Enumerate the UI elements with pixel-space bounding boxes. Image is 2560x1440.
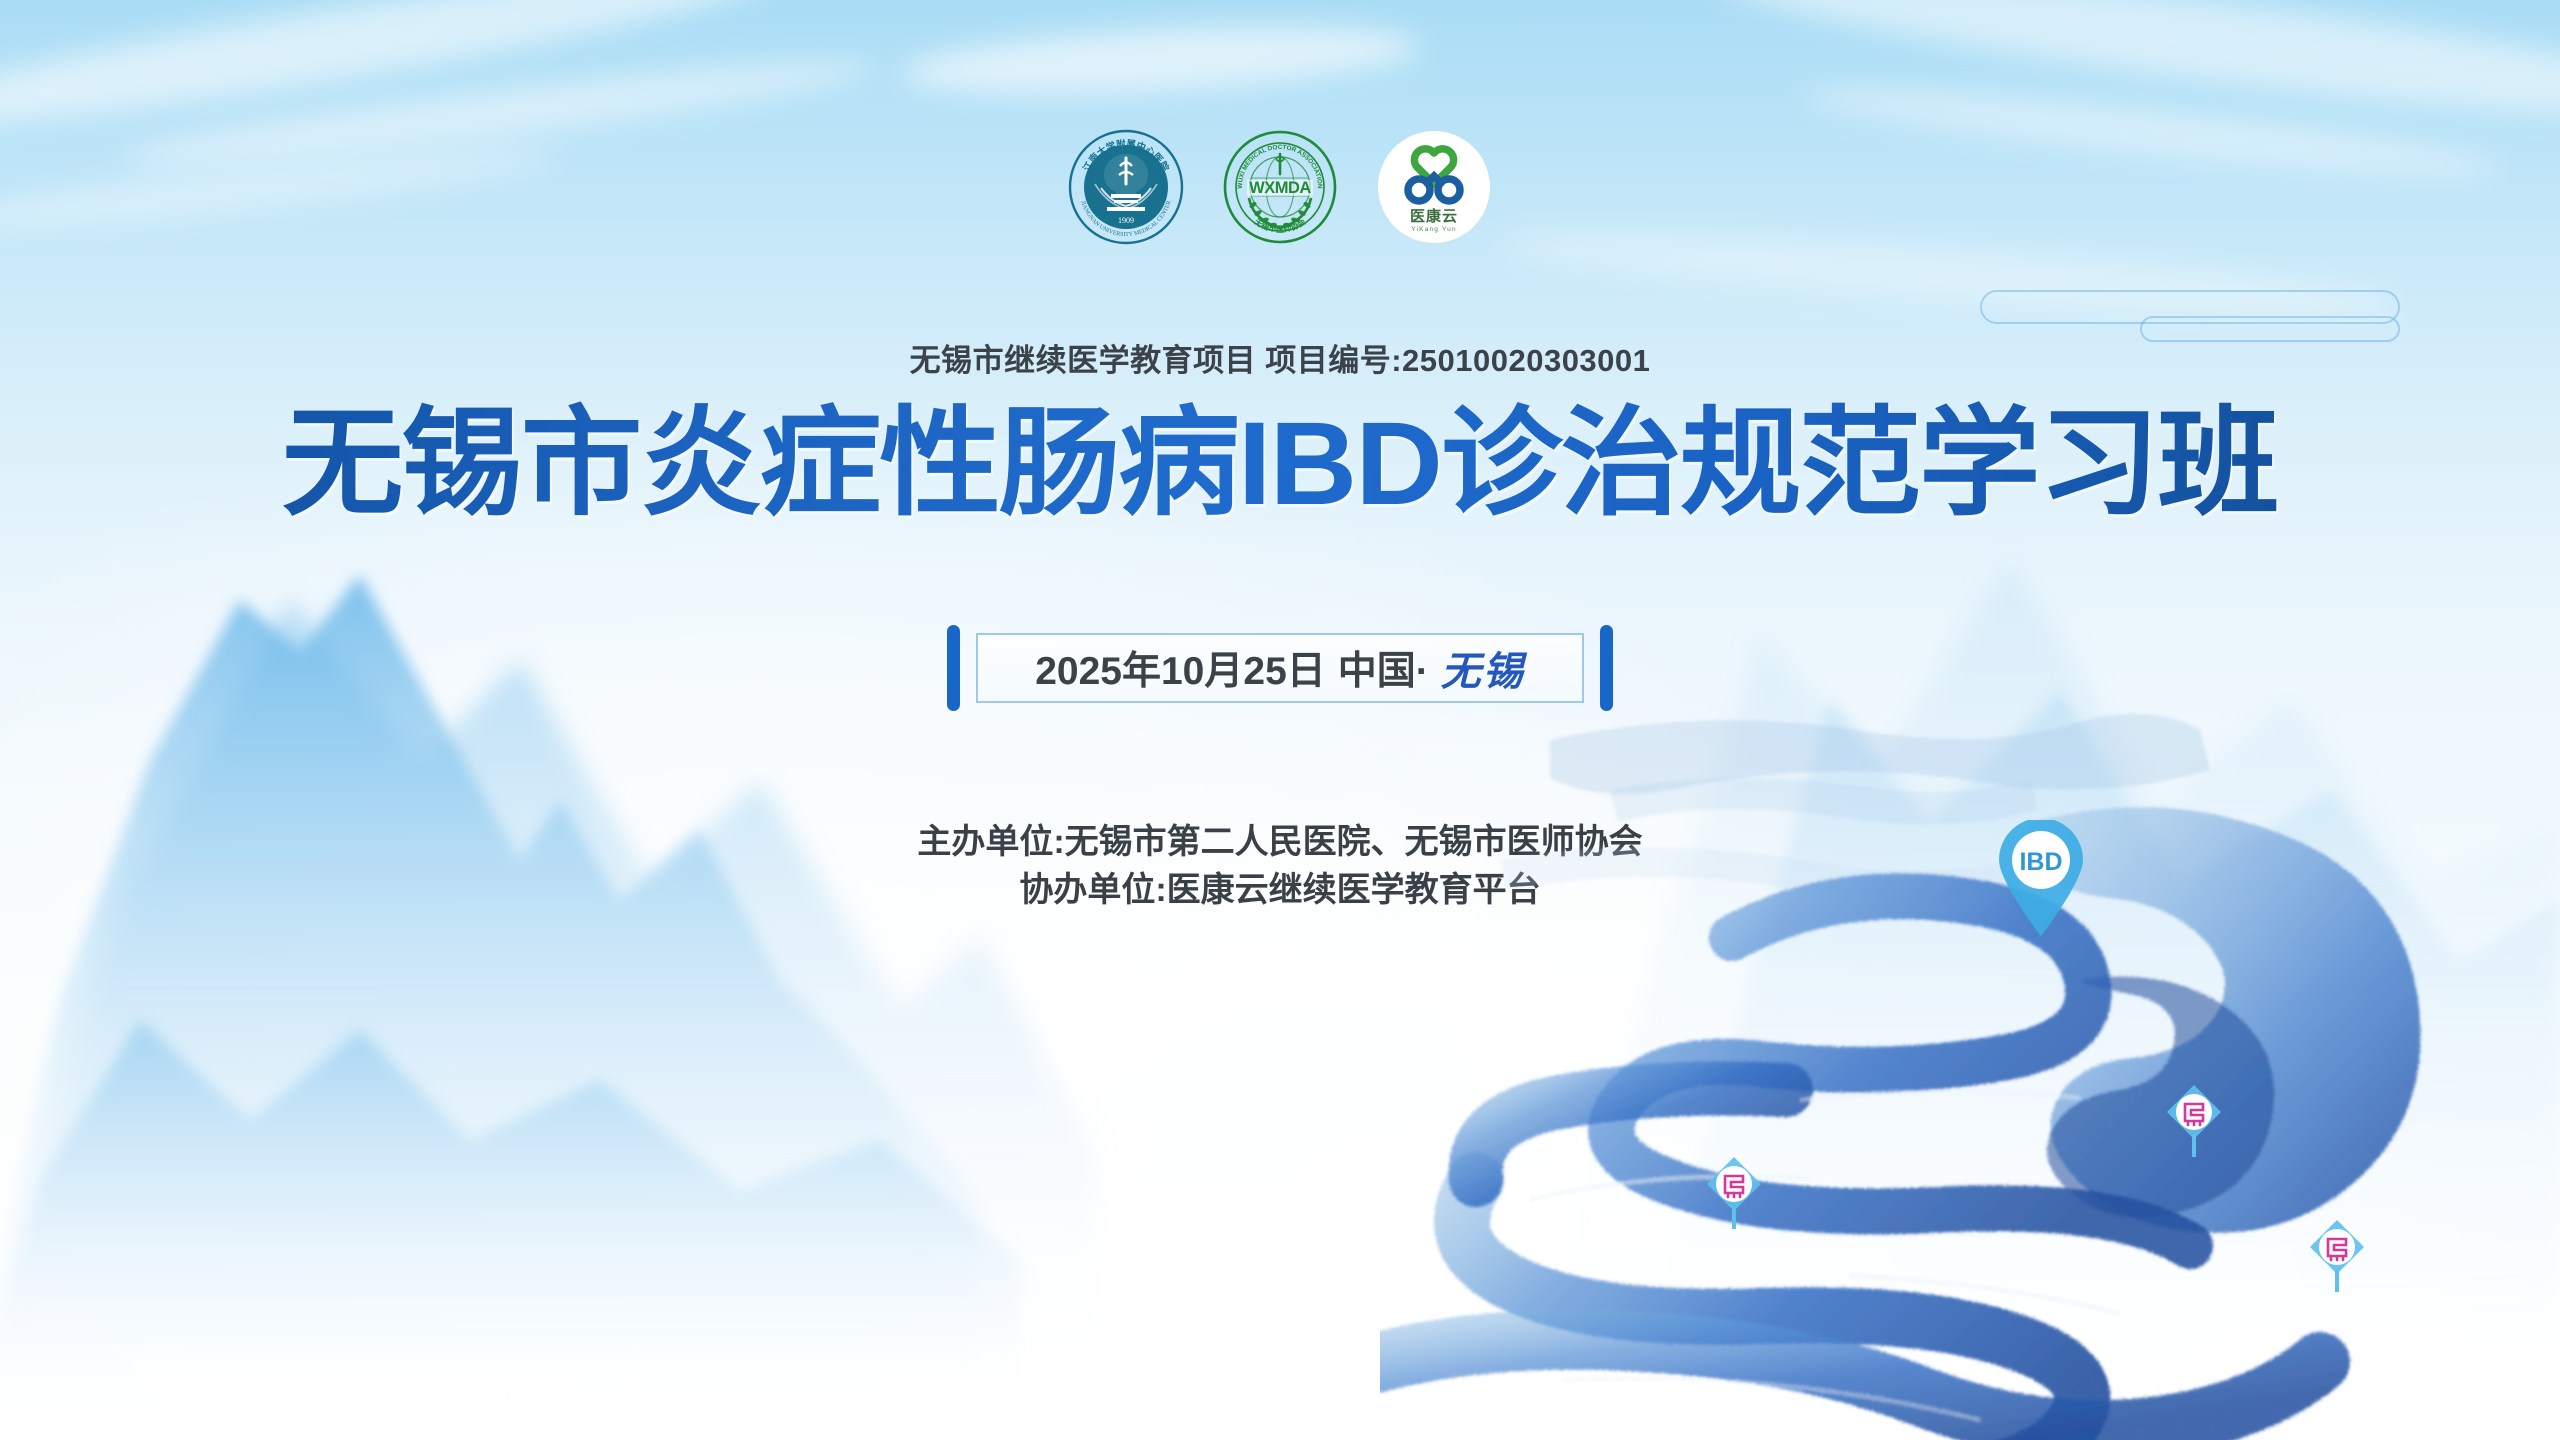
organizer-line-host: 主办单位:无锡市第二人民医院、无锡市医师协会 bbox=[0, 818, 2560, 866]
cloud-streak bbox=[899, 16, 1421, 103]
event-date: 2025年10月25日 bbox=[1035, 640, 1326, 696]
map-pin-ibd-label: IBD bbox=[2019, 848, 2062, 876]
logo-wxmda-seal: WXMDA WUXI MEDICAL DOCTOR ASSOCIATION 无锡… bbox=[1221, 128, 1339, 246]
logo-yikangyun: 医康云 YiKang Yun bbox=[1375, 128, 1493, 246]
organizers-block: 主办单位:无锡市第二人民医院、无锡市医师协会 协办单位:医康云继续医学教育平台 bbox=[0, 818, 2560, 915]
cloud-streak bbox=[1709, 0, 2560, 141]
date-bar: 2025年10月25日 中国· 无锡 bbox=[947, 625, 1613, 711]
map-pin-small-3 bbox=[2306, 1218, 2368, 1294]
page-title: 无锡市炎症性肠病IBD诊治规范学习班 bbox=[282, 398, 2277, 530]
event-city: 无锡 bbox=[1441, 639, 1525, 697]
date-box: 2025年10月25日 中国· 无锡 bbox=[976, 633, 1584, 703]
svg-text:YiKang Yun: YiKang Yun bbox=[1411, 226, 1457, 233]
date-bar-right-accent bbox=[1600, 625, 1613, 711]
conference-poster: 1909 江南大学附属中心医院 JIANGNAN UNIVERSITY MEDI… bbox=[0, 0, 2560, 1440]
country-prefix: 中国· bbox=[1338, 640, 1429, 696]
project-number-line: 无锡市继续医学教育项目 项目编号:25010020303001 bbox=[0, 335, 2560, 380]
decorative-line-outer bbox=[1980, 290, 2400, 324]
map-pin-small-1 bbox=[1703, 1155, 1765, 1231]
map-pin-ibd: IBD bbox=[1993, 820, 2089, 938]
date-bar-left-accent bbox=[947, 625, 960, 711]
map-pin-small-2 bbox=[2163, 1083, 2225, 1159]
title-container: 无锡市炎症性肠病IBD诊治规范学习班 bbox=[0, 398, 2560, 530]
organizer-line-coorganizer: 协办单位:医康云继续医学教育平台 bbox=[0, 866, 2560, 914]
logo-row: 1909 江南大学附属中心医院 JIANGNAN UNIVERSITY MEDI… bbox=[0, 128, 2560, 246]
svg-text:医康云: 医康云 bbox=[1410, 207, 1458, 225]
intestine-artwork bbox=[1380, 680, 2560, 1440]
date-location-row: 2025年10月25日 中国· 无锡 bbox=[0, 625, 2560, 711]
logo-jiangnan-hospital-seal: 1909 江南大学附属中心医院 JIANGNAN UNIVERSITY MEDI… bbox=[1067, 128, 1185, 246]
svg-text:1909: 1909 bbox=[1118, 216, 1134, 225]
svg-text:WXMDA: WXMDA bbox=[1249, 179, 1311, 197]
